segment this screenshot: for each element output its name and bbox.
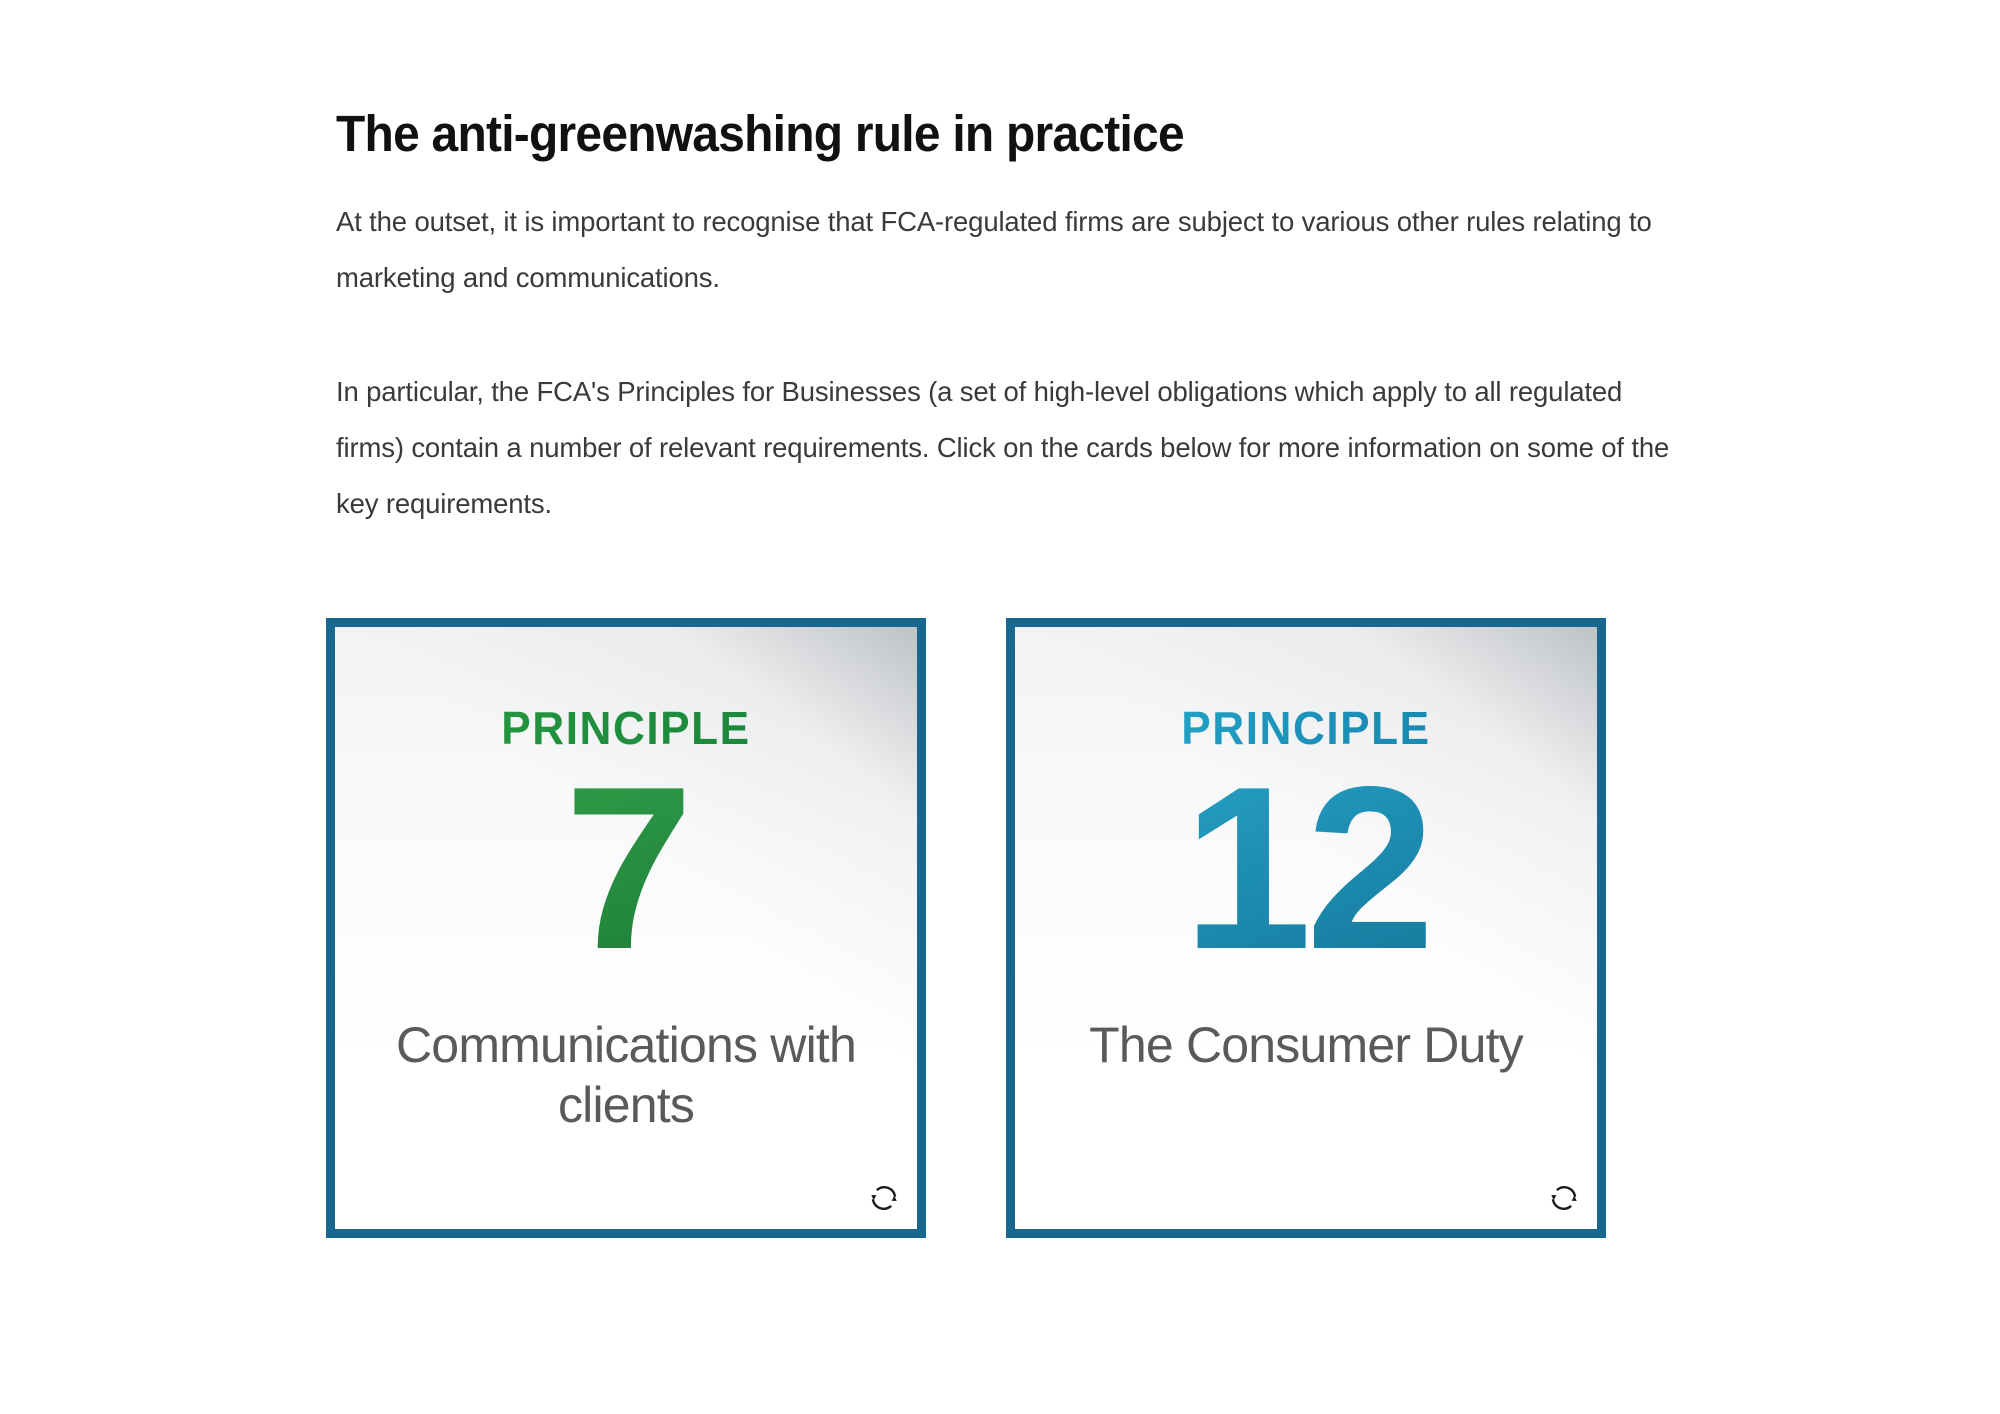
page-root: The anti-greenwashing rule in practice A… bbox=[0, 0, 2000, 1414]
principle-card-12[interactable]: PRINCIPLE 12 The Consumer Duty bbox=[1006, 618, 1606, 1238]
refresh-flip-icon[interactable] bbox=[867, 1181, 901, 1215]
principle-caption: The Consumer Duty bbox=[1055, 1015, 1557, 1075]
intro-paragraph-2: In particular, the FCA's Principles for … bbox=[336, 364, 1696, 532]
principle-caption: Communications with clients bbox=[375, 1015, 877, 1135]
principle-card-7[interactable]: PRINCIPLE 7 Communications with clients bbox=[326, 618, 926, 1238]
card-face-front: PRINCIPLE 12 The Consumer Duty bbox=[1015, 627, 1597, 1229]
principle-number: 7 bbox=[335, 747, 917, 991]
paragraph-spacer bbox=[336, 306, 1696, 364]
principle-number: 12 bbox=[1015, 747, 1597, 991]
page-title: The anti-greenwashing rule in practice bbox=[336, 104, 1614, 164]
intro-paragraph-1: At the outset, it is important to recogn… bbox=[336, 194, 1696, 306]
refresh-flip-icon[interactable] bbox=[1547, 1181, 1581, 1215]
principle-card-grid: PRINCIPLE 7 Communications with clients bbox=[326, 618, 1606, 1254]
article-content: The anti-greenwashing rule in practice A… bbox=[336, 104, 1696, 532]
card-face-front: PRINCIPLE 7 Communications with clients bbox=[335, 627, 917, 1229]
